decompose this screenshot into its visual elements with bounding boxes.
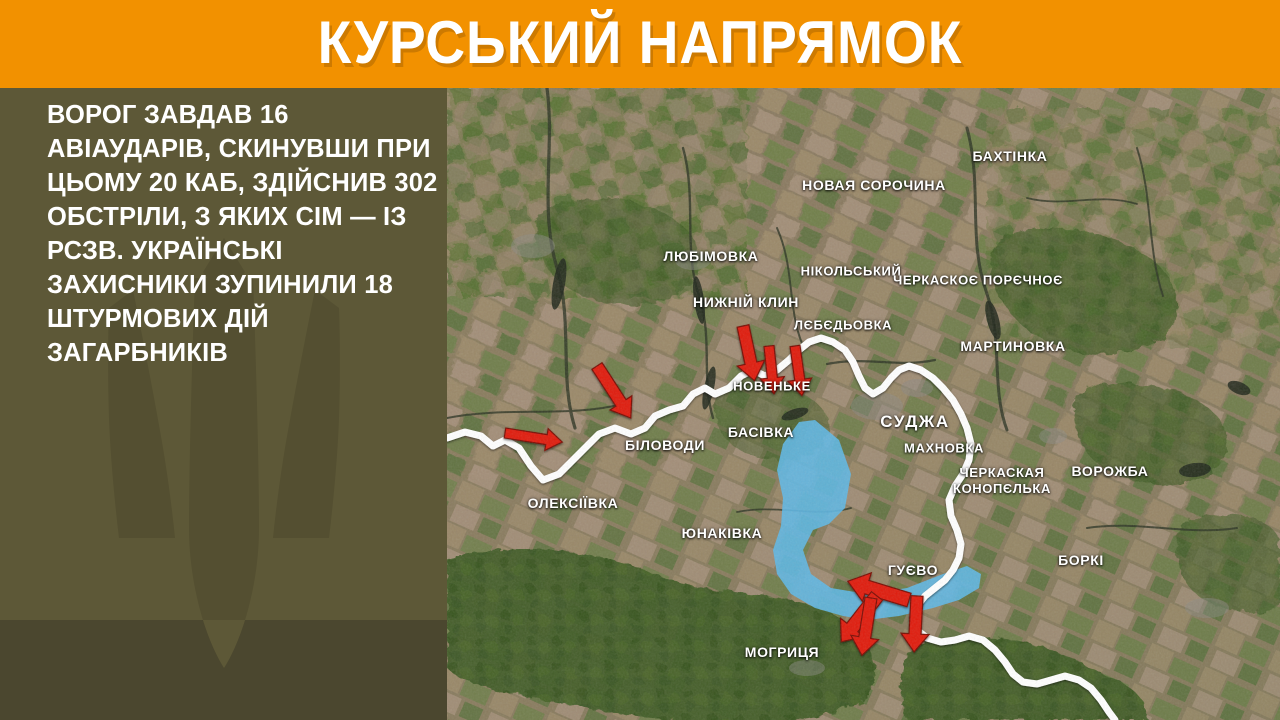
panel-lower-band [0,620,447,720]
header-banner: КУРСЬКИЙ НАПРЯМОК [0,0,1280,88]
infographic-root: КУРСЬКИЙ НАПРЯМОК ВОРОГ ЗАВДАВ 16 АВІАУД… [0,0,1280,720]
summary-text: ВОРОГ ЗАВДАВ 16 АВІАУДАРІВ, СКИНУВШИ ПРИ… [47,98,439,370]
page-title: КУРСЬКИЙ НАПРЯМОК [51,6,1229,80]
map-canvas [447,88,1280,720]
summary-panel: ВОРОГ ЗАВДАВ 16 АВІАУДАРІВ, СКИНУВШИ ПРИ… [0,88,447,720]
satellite-map[interactable]: БАХТІНКАНОВАЯ СОРОЧИНАЛЮБІМОВКАНІКОЛЬСЬК… [447,88,1280,720]
